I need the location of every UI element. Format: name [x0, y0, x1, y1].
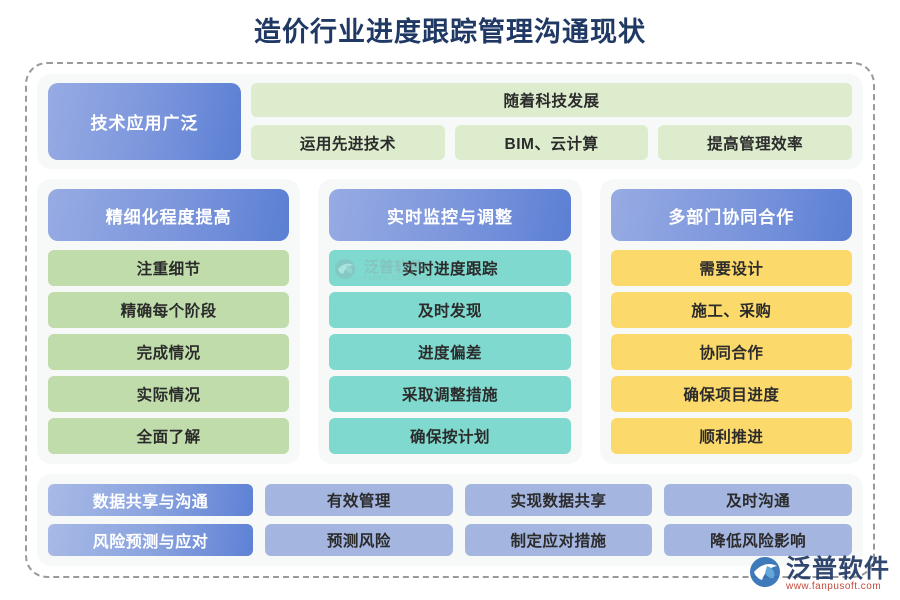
tech-application-row: 技术应用广泛 随着科技发展 运用先进技术 BIM、云计算 提高管理效率	[37, 74, 863, 169]
column-header[interactable]: 实时监控与调整	[329, 189, 570, 241]
column-item[interactable]: 全面了解	[48, 418, 289, 454]
tech-row-banner[interactable]: 随着科技发展	[251, 83, 852, 117]
column-item[interactable]: 精确每个阶段	[48, 292, 289, 328]
column-item[interactable]: 实际情况	[48, 376, 289, 412]
column-item[interactable]: 需要设计	[611, 250, 852, 286]
column-item[interactable]: 实时进度跟踪	[329, 250, 570, 286]
bottom-line-data-sharing: 数据共享与沟通 有效管理 实现数据共享 及时沟通	[48, 484, 852, 516]
column-item[interactable]: 确保项目进度	[611, 376, 852, 412]
bottom-grid-row: 数据共享与沟通 有效管理 实现数据共享 及时沟通 风险预测与应对 预测风险 制定…	[37, 474, 863, 566]
three-column-row: 精细化程度提高 注重细节 精确每个阶段 完成情况 实际情况 全面了解 实时监控与…	[37, 179, 863, 464]
column-item[interactable]: 协同合作	[611, 334, 852, 370]
column-item[interactable]: 确保按计划	[329, 418, 570, 454]
column-collaboration: 多部门协同合作 需要设计 施工、采购 协同合作 确保项目进度 顺利推进	[600, 179, 863, 464]
bottom-row-cell[interactable]: 及时沟通	[664, 484, 852, 516]
column-header[interactable]: 多部门协同合作	[611, 189, 852, 241]
bottom-row-header[interactable]: 数据共享与沟通	[48, 484, 253, 516]
column-item[interactable]: 及时发现	[329, 292, 570, 328]
bottom-row-cell[interactable]: 降低风险影响	[664, 524, 852, 556]
page-title: 造价行业进度跟踪管理沟通现状	[0, 0, 900, 52]
bottom-row-header[interactable]: 风险预测与应对	[48, 524, 253, 556]
tech-row-item[interactable]: BIM、云计算	[455, 125, 649, 160]
bottom-row-cell[interactable]: 预测风险	[265, 524, 453, 556]
column-header[interactable]: 精细化程度提高	[48, 189, 289, 241]
bottom-row-cell[interactable]: 实现数据共享	[465, 484, 653, 516]
bottom-row-cell[interactable]: 有效管理	[265, 484, 453, 516]
column-item[interactable]: 完成情况	[48, 334, 289, 370]
watermark-corner-sub: www.fanpusoft.com	[786, 582, 890, 593]
tech-row-item[interactable]: 提高管理效率	[658, 125, 852, 160]
tech-row-header[interactable]: 技术应用广泛	[48, 83, 241, 160]
bottom-row-cell[interactable]: 制定应对措施	[465, 524, 653, 556]
column-refinement: 精细化程度提高 注重细节 精确每个阶段 完成情况 实际情况 全面了解	[37, 179, 300, 464]
column-item[interactable]: 采取调整措施	[329, 376, 570, 412]
column-item[interactable]: 进度偏差	[329, 334, 570, 370]
column-item[interactable]: 顺利推进	[611, 418, 852, 454]
diagram-frame: 技术应用广泛 随着科技发展 运用先进技术 BIM、云计算 提高管理效率 精细化程…	[25, 62, 875, 578]
column-item[interactable]: 注重细节	[48, 250, 289, 286]
bottom-line-risk: 风险预测与应对 预测风险 制定应对措施 降低风险影响	[48, 524, 852, 556]
column-item[interactable]: 施工、采购	[611, 292, 852, 328]
tech-row-item[interactable]: 运用先进技术	[251, 125, 445, 160]
column-monitoring: 实时监控与调整 实时进度跟踪 及时发现 进度偏差 采取调整措施 确保按计划	[318, 179, 581, 464]
